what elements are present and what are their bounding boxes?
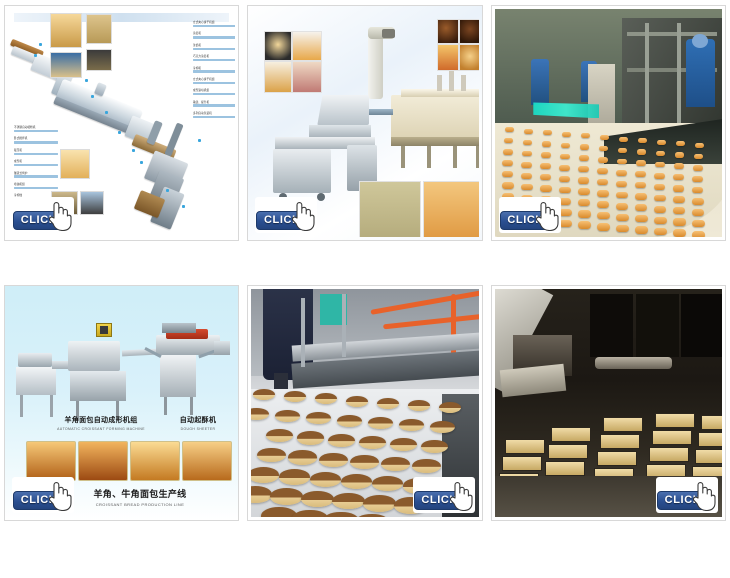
callout-item: 立式夹心饼干机组 (193, 21, 235, 27)
callout-node (91, 95, 94, 98)
click-badge[interactable]: CLICK (255, 197, 317, 233)
pancake (390, 438, 416, 451)
click-badge[interactable]: CLICK (499, 197, 561, 233)
cake-bar (693, 165, 703, 171)
pancake (408, 400, 430, 411)
tunnel-oven (391, 95, 478, 139)
pancake (323, 512, 358, 517)
cake-bar (656, 151, 666, 156)
click-badge[interactable]: CLICK (656, 477, 718, 513)
pancake (288, 450, 317, 464)
biscuit-tray (551, 427, 591, 442)
cake-bar (559, 209, 572, 216)
callout-node (198, 139, 201, 142)
pancake (430, 421, 454, 433)
callout-node (105, 111, 108, 114)
pancake (275, 410, 299, 422)
callout-item: 输送、提升机 (193, 101, 235, 107)
pancake (421, 440, 447, 453)
gallery-cell-cake-production-line[interactable]: CLICK (247, 5, 482, 241)
biscuit-tray (545, 461, 585, 476)
cake-bar (654, 184, 665, 190)
gallery-cell-croissant-production-line[interactable]: 羊角面包自动成形机组 AUTOMATIC CROISSANT FORMING M… (4, 285, 239, 521)
cake-bar (635, 182, 646, 188)
cake-bar (694, 154, 704, 159)
cake-bar (692, 220, 705, 227)
machine-1-caption-en: AUTOMATIC CROISSANT FORMING MACHINE (46, 427, 156, 431)
pancake (354, 514, 389, 517)
pancake (261, 507, 296, 517)
cake-bar (541, 152, 551, 158)
click-badge[interactable]: CLICK (12, 477, 74, 513)
cake-bar (692, 209, 704, 216)
cake-bar (654, 228, 667, 236)
cake-bar (635, 204, 647, 211)
hand-pointer-icon (44, 198, 72, 231)
biscuit-tray (655, 413, 695, 428)
product-photo-thumb (292, 31, 322, 61)
cake-bar (654, 206, 666, 213)
callout-item: 不锈钢自动喂粉机 (14, 126, 58, 132)
product-photo-thumb (50, 13, 82, 48)
pancake (251, 408, 268, 420)
cake-bar (597, 179, 608, 185)
cake-bar (522, 151, 532, 157)
packaged-product-photo (423, 181, 478, 237)
biscuit-tray (603, 417, 643, 432)
hand-pointer-icon (44, 478, 72, 511)
cake-bar (617, 159, 627, 165)
cake-bar (540, 174, 551, 180)
cake-bar (657, 140, 666, 145)
pancake (372, 476, 403, 491)
callout-node (140, 161, 143, 164)
product-photo-thumb (86, 49, 112, 71)
cake-bar (673, 229, 686, 237)
pancake (439, 402, 461, 413)
pancake (292, 510, 327, 517)
cake-bar (540, 163, 551, 169)
hand-pointer-icon (688, 478, 716, 511)
cake-bar (502, 182, 514, 189)
cake-bar (597, 201, 609, 208)
pancake (257, 448, 286, 462)
cake-bar (559, 165, 570, 171)
tunnel-oven (391, 137, 478, 146)
callout-item: 涂层机 (193, 32, 235, 38)
callout-item: 立式夹心饼干机组 (193, 78, 235, 84)
machine-1-caption-cn: 羊角面包自动成形机组 (46, 415, 156, 425)
cake-bar (521, 173, 532, 179)
connector-pipe (369, 109, 393, 115)
cake-bar (654, 217, 667, 224)
pancake (377, 398, 399, 409)
machine-cabinet (273, 149, 331, 193)
cake-bar (502, 171, 513, 177)
cake-bar (635, 171, 646, 177)
cake-bar (655, 162, 665, 168)
callout-item: 注馅机 (193, 44, 235, 50)
callout-item: 巧克力涂层机 (193, 55, 235, 61)
callout-node (132, 149, 135, 152)
cake-bar (692, 198, 704, 205)
callout-node (85, 79, 88, 82)
oven-exhaust-duct (382, 29, 395, 38)
callout-node (166, 189, 169, 192)
biscuit-tray (597, 451, 637, 466)
product-photo-thumb (459, 44, 478, 71)
product-line-title-en: CROISSANT BREAD PRODUCTION LINE (70, 502, 210, 507)
cake-bar (580, 144, 590, 149)
biscuit-tray (649, 447, 689, 462)
cake-bar (562, 132, 571, 137)
callout-node (118, 131, 121, 134)
cake-bar (560, 154, 570, 160)
product-photo-thumb (60, 149, 90, 179)
gallery-cell-biscuit-line-diagram[interactable]: 不锈钢自动喂粉机 卧式搅拌机 辊压机 成型机 隧道式烤炉 喷油机组 冷却线 自动… (4, 5, 239, 241)
cake-bar (674, 163, 684, 169)
callout-item: 成型滚切机组 (193, 89, 235, 95)
cake-bar (540, 185, 552, 192)
cake-bar (524, 129, 533, 134)
gallery-row-2: 羊角面包自动成形机组 AUTOMATIC CROISSANT FORMING M… (0, 280, 730, 526)
product-photo-thumb (459, 19, 478, 44)
cake-bar (579, 155, 589, 161)
cake-bar (521, 184, 533, 191)
product-photo-thumb (50, 52, 82, 78)
cake-bar (692, 231, 705, 237)
cake-bar (673, 174, 684, 180)
callout-item: 多列自动包装机 (193, 112, 235, 118)
cake-bar (502, 160, 513, 166)
oven-chimney (449, 71, 454, 91)
cake-bar (543, 130, 552, 135)
product-photo-thumb (80, 191, 104, 215)
pancake (297, 431, 323, 444)
product-photo-thumb (86, 14, 112, 44)
cake-bar (600, 135, 609, 140)
product-photo-thumb (264, 31, 292, 61)
cake-bar (504, 138, 514, 143)
product-photo-thumb (437, 44, 459, 71)
pancake (253, 389, 275, 400)
cake-bar (578, 177, 589, 183)
cake-bar (673, 207, 685, 214)
click-badge[interactable]: CLICK (12, 197, 74, 233)
cake-bar (599, 146, 609, 151)
right-callout-list: 立式夹心饼干机组 涂层机 注馅机 巧克力涂层机 冷却机 立式夹心饼干机组 成型滚… (193, 21, 235, 123)
pancake (315, 393, 337, 404)
cake-depositor-hood (317, 95, 369, 125)
product-gallery: 不锈钢自动喂粉机 卧式搅拌机 辊压机 成型机 隧道式烤炉 喷油机组 冷却线 自动… (0, 0, 730, 526)
pancake (350, 455, 379, 469)
cake-bar (692, 187, 703, 193)
click-badge[interactable]: CLICK (413, 477, 475, 513)
cake-bar (673, 185, 684, 191)
cake-bar (503, 149, 513, 155)
cake-bar (695, 143, 704, 148)
callout-item: 卧式搅拌机 (14, 137, 58, 143)
pancake (251, 486, 272, 503)
gallery-cell-wafer-plates-photo[interactable]: CLICK (491, 285, 726, 521)
cake-bar (616, 170, 627, 176)
callout-item: 辊压机 (14, 149, 58, 155)
pancake (332, 493, 365, 510)
pancake (301, 491, 334, 508)
pancake (381, 457, 410, 471)
croissant-photo (130, 441, 180, 481)
cake-bar (618, 148, 628, 153)
pancake (399, 419, 423, 431)
cake-bar (635, 193, 647, 200)
cake-bar (578, 221, 591, 229)
cake-bar (597, 168, 608, 174)
oven-leg (476, 146, 478, 168)
callout-item: 隧道式烤炉 (14, 172, 58, 178)
croissant-photo (182, 441, 232, 481)
cake-bar (619, 137, 628, 142)
croissant-photo (26, 441, 76, 481)
cake-bar (581, 133, 590, 138)
cake-bar (635, 226, 648, 234)
pancake (270, 488, 303, 505)
pancake (279, 469, 310, 484)
machine-caster (317, 193, 325, 201)
oven-leg (401, 146, 405, 168)
cake-bar (542, 141, 552, 146)
cake-bar (676, 141, 685, 146)
cake-bar (523, 140, 533, 145)
cake-bar (673, 218, 686, 225)
cake-bar (616, 203, 628, 210)
cake-bar (597, 212, 610, 219)
pancake (328, 434, 354, 447)
cake-bar (521, 162, 532, 168)
callout-item: 成型机 (14, 160, 58, 166)
cake-bar (692, 176, 703, 182)
biscuit-tray (701, 415, 722, 430)
product-line-title-cn: 羊角、牛角面包生产线 (70, 487, 210, 500)
pancake (363, 495, 396, 512)
pancake (310, 472, 341, 487)
cake-bar (616, 225, 629, 233)
pancake (319, 453, 348, 467)
oven-leg (453, 146, 457, 168)
cake-bar (616, 214, 629, 221)
gallery-cell-swiss-roll-factory-photo[interactable]: CLICK (491, 5, 726, 241)
pancake (346, 396, 368, 407)
biscuit-tray (548, 444, 588, 459)
callout-item: 喷油机组 (14, 183, 58, 189)
cake-bar (598, 157, 608, 163)
cake-bar (578, 166, 589, 172)
product-photo-thumb (437, 19, 459, 44)
packaged-product-photo (359, 181, 421, 237)
cake-bar (675, 152, 685, 157)
pancake (341, 474, 372, 489)
cake-bar (654, 173, 665, 179)
cake-bar (559, 187, 571, 194)
machine-2-caption-en: DOUGH SHEETER (166, 427, 230, 431)
gallery-cell-pancake-line-photo[interactable]: CLICK (247, 285, 482, 521)
pancake (337, 415, 361, 427)
cake-bar (636, 160, 646, 166)
pancake (306, 412, 330, 424)
pancake (251, 467, 279, 482)
cake-bar (559, 220, 572, 228)
callout-node (39, 43, 42, 46)
cake-bar (616, 181, 627, 187)
cake-bar (637, 149, 647, 154)
cake-bar (505, 127, 514, 132)
cake-bar (578, 210, 591, 217)
biscuit-tray (652, 430, 692, 445)
oven-leg (427, 146, 431, 168)
cake-bar (635, 215, 648, 222)
cake-bar (559, 176, 570, 182)
pancake (359, 436, 385, 449)
biscuit-tray (600, 434, 640, 449)
cake-bar (673, 196, 685, 203)
product-photo-thumb (264, 61, 292, 93)
oven-chimney (437, 75, 442, 91)
cake-bar (654, 195, 666, 202)
biscuit-tray (505, 439, 545, 454)
hand-pointer-icon (531, 198, 559, 231)
oven-chimney (461, 75, 466, 91)
pancake (266, 429, 292, 442)
hand-pointer-icon (287, 198, 315, 231)
cake-bar (561, 143, 571, 148)
cake-bar (578, 199, 590, 206)
pancake (412, 459, 441, 473)
biscuit-tray (698, 432, 722, 447)
cake-bar (578, 188, 590, 195)
gallery-row-1: 不锈钢自动喂粉机 卧式搅拌机 辊压机 成型机 隧道式烤炉 喷油机组 冷却线 自动… (0, 0, 730, 246)
biscuit-tray (502, 456, 542, 471)
biscuit-tray (695, 449, 722, 464)
cake-bar (597, 223, 610, 231)
callout-item: 冷却机 (193, 67, 235, 73)
product-photo-thumb (292, 61, 322, 93)
cake-bar (597, 190, 609, 197)
cake-bar (616, 192, 628, 199)
croissant-photo (78, 441, 128, 481)
machine-2-caption-cn: 自动起酥机 (166, 415, 230, 425)
callout-node (34, 54, 37, 57)
hand-pointer-icon (445, 478, 473, 511)
cake-bar (638, 138, 647, 143)
pancake (284, 391, 306, 402)
callout-node (182, 205, 185, 208)
pancake (368, 417, 392, 429)
